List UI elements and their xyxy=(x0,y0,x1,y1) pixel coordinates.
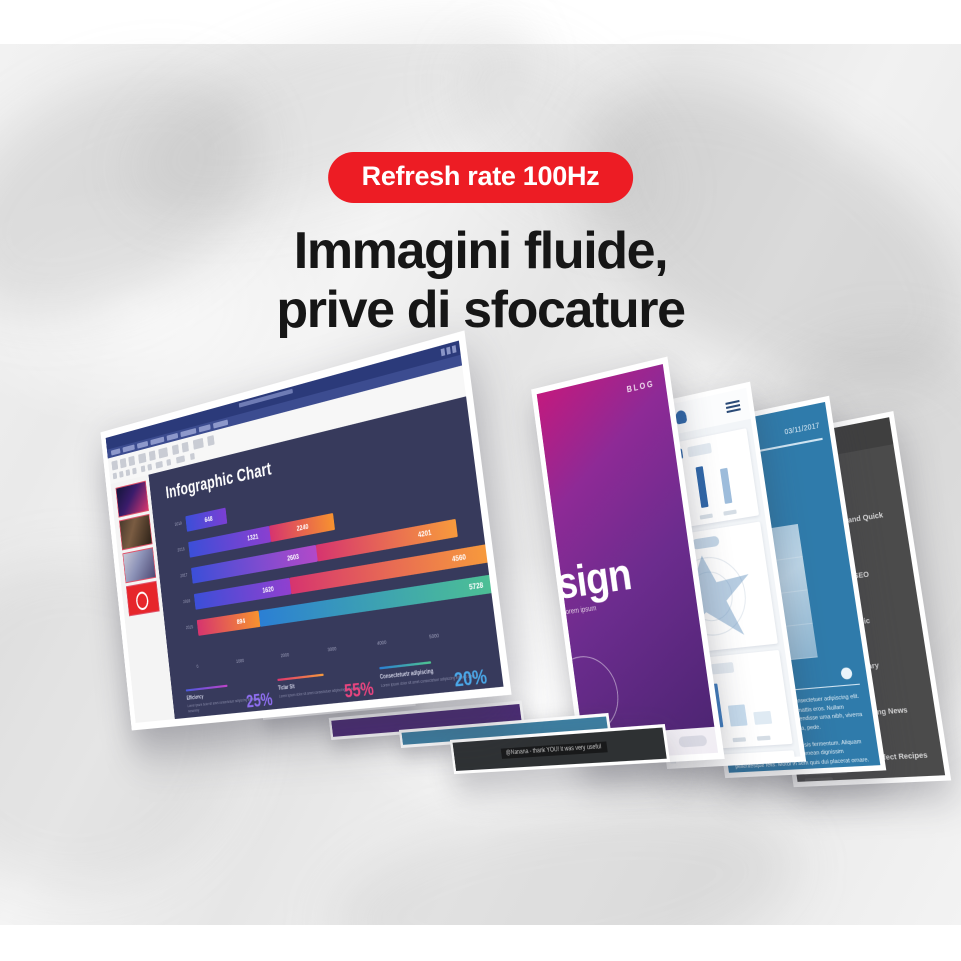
bar-segment: 1321 xyxy=(188,526,271,558)
bar-value: 4560 xyxy=(452,553,467,564)
bar xyxy=(753,711,772,725)
chart-tab[interactable] xyxy=(687,443,712,458)
slide-thumbnail[interactable] xyxy=(126,581,160,617)
bar-label xyxy=(732,737,746,742)
legend-percent: 20% xyxy=(453,665,489,693)
slide-thumbnail[interactable] xyxy=(122,547,156,583)
axis-tick: 5000 xyxy=(429,634,440,641)
article-meta xyxy=(804,777,833,782)
screen-presentation-editor: Infographic Chart 2019 648 2018 1321 xyxy=(100,330,511,730)
axis-category-label: 2015 xyxy=(177,624,193,632)
more-button[interactable] xyxy=(840,667,853,680)
axis-category-label: 2019 xyxy=(166,520,182,528)
bar xyxy=(696,466,709,508)
bar-value: 5728 xyxy=(469,581,484,592)
bar-segment: 1620 xyxy=(194,578,291,610)
legend-percent: 25% xyxy=(245,688,273,712)
chart-tab[interactable] xyxy=(711,662,734,675)
legend-item: Ticlar Sit Lorem ipsum dolor sit amet co… xyxy=(277,668,372,700)
promo-banner: Refresh rate 100Hz Immagini fluide, priv… xyxy=(0,0,961,961)
video-caption: @Nanana - thank YOU! it was very useful xyxy=(500,741,607,758)
bar-segment: 2240 xyxy=(269,513,335,542)
bar-value: 2240 xyxy=(296,523,309,533)
design-headline: sign xyxy=(554,549,634,610)
bar-segment: 894 xyxy=(197,611,261,636)
bar-value: 648 xyxy=(204,515,213,524)
bar-label xyxy=(723,509,737,515)
slide-thumbnail[interactable] xyxy=(116,481,149,518)
legend-swatch xyxy=(277,674,324,682)
bar xyxy=(720,468,732,504)
bar-value: 4201 xyxy=(417,528,431,539)
axis-category-label: 2018 xyxy=(169,546,185,554)
axis-tick: 1000 xyxy=(236,659,245,665)
window-buttons[interactable] xyxy=(441,345,457,356)
legend-item: Consectetuetr adipiscing Lorem ipsum dol… xyxy=(379,655,485,689)
axis-tick: 0 xyxy=(196,665,198,670)
nav-blog-link[interactable]: BLOG xyxy=(626,379,655,395)
editor-viewport: Infographic Chart 2019 648 2018 1321 xyxy=(106,341,504,723)
bar-label xyxy=(700,513,713,519)
bar-segment: 5219 xyxy=(487,531,503,562)
screen-stack: Blog Blogging on Blog! Easy and Quick wa… xyxy=(0,0,961,961)
radar-tab-active[interactable] xyxy=(691,536,720,550)
legend-item: Efficiency Lorem ipsum dolor sit amet co… xyxy=(186,680,272,715)
hamburger-menu-icon[interactable] xyxy=(725,400,741,414)
bar-value: 894 xyxy=(236,617,245,626)
axis-tick: 2000 xyxy=(281,653,290,660)
bar-value: 1321 xyxy=(247,533,259,543)
bar-label xyxy=(757,736,771,741)
article-date: 03/11/2017 xyxy=(784,422,820,436)
axis-category-label: 2016 xyxy=(175,598,191,606)
bar-value: 1620 xyxy=(262,585,274,594)
bar-segment: 648 xyxy=(185,508,227,532)
slide-thumbnail[interactable] xyxy=(119,514,153,551)
legend-percent: 55% xyxy=(343,677,375,703)
bar-value: 2603 xyxy=(287,553,300,563)
axis-tick: 4000 xyxy=(377,640,387,647)
bar xyxy=(728,704,748,726)
axis-tick: 3000 xyxy=(327,647,336,654)
legend-swatch xyxy=(186,685,228,692)
axis-category-label: 2017 xyxy=(172,572,188,580)
